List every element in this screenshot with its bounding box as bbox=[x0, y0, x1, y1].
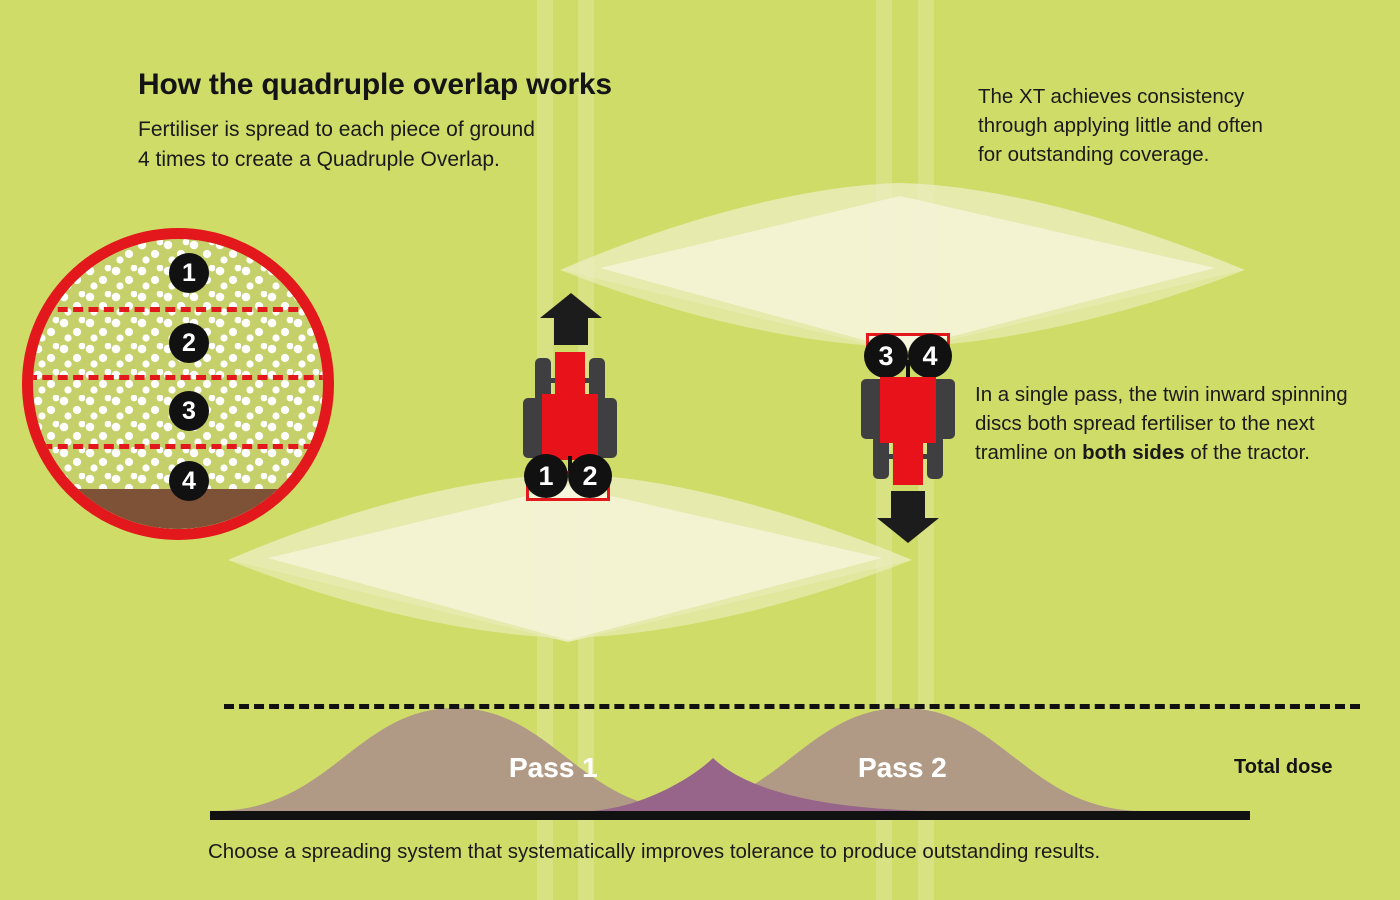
dose-curves bbox=[0, 680, 1400, 830]
spreader-disc-4: 4 bbox=[908, 334, 952, 378]
band-badge-4: 4 bbox=[169, 461, 209, 501]
spreader-disc-2: 2 bbox=[568, 454, 612, 498]
dose-chart bbox=[0, 680, 1400, 830]
direction-arrow-down-icon bbox=[877, 491, 939, 543]
spreader-disc-3: 3 bbox=[864, 334, 908, 378]
band-divider-2 bbox=[33, 375, 323, 380]
pass-1-label: Pass 1 bbox=[509, 752, 598, 784]
footer-text: Choose a spreading system that systemati… bbox=[208, 840, 1100, 864]
total-dose-target-line bbox=[224, 704, 1360, 709]
band-divider-3 bbox=[33, 444, 323, 449]
circle-contents: 1 2 3 4 bbox=[33, 239, 323, 529]
infographic-canvas: How the quadruple overlap works Fertilis… bbox=[0, 0, 1400, 900]
tractor-pass-2 bbox=[853, 375, 963, 485]
page-subtitle: Fertiliser is spread to each piece of gr… bbox=[138, 115, 535, 175]
spreader-disc-1: 1 bbox=[524, 454, 568, 498]
callout-text-bold: both sides bbox=[1082, 441, 1185, 464]
callout-top-right: The XT achieves consistency through appl… bbox=[978, 82, 1263, 169]
spread-fan-upper bbox=[560, 183, 1245, 352]
dose-curve-pass-1 bbox=[214, 708, 696, 811]
callout-mid-right: In a single pass, the twin inward spinni… bbox=[975, 380, 1350, 467]
callout-text-part2: of the tractor. bbox=[1185, 441, 1310, 464]
band-badge-1: 1 bbox=[169, 253, 209, 293]
band-badge-2: 2 bbox=[169, 323, 209, 363]
band-divider-1 bbox=[33, 307, 323, 312]
total-dose-label: Total dose bbox=[1234, 756, 1333, 779]
band-badge-3: 3 bbox=[169, 391, 209, 431]
direction-arrow-up-icon bbox=[540, 293, 602, 345]
chart-baseline bbox=[210, 811, 1250, 820]
tractor-chassis bbox=[880, 377, 936, 443]
circle-red-ring: 1 2 3 4 bbox=[22, 228, 334, 540]
tractor-chassis bbox=[542, 394, 598, 460]
page-title: How the quadruple overlap works bbox=[138, 68, 612, 102]
pass-2-label: Pass 2 bbox=[858, 752, 947, 784]
tractor-pass-1 bbox=[515, 352, 625, 462]
quadruple-overlap-circle: 1 2 3 4 bbox=[22, 228, 334, 540]
